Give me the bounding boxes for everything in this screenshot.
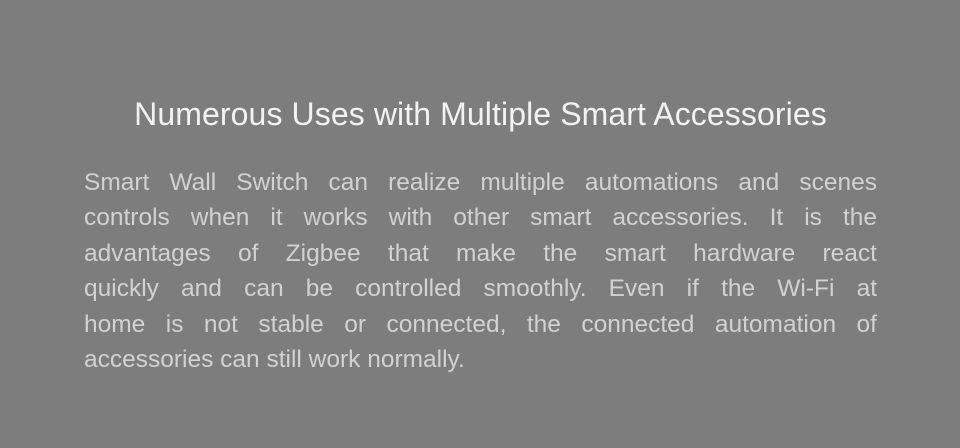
body-line: controls when it works with other smart … (84, 200, 877, 235)
banner-headline: Numerous Uses with Multiple Smart Access… (84, 94, 877, 134)
banner-body-copy: Smart Wall Switch can realize multiple a… (84, 165, 877, 377)
body-line: home is not stable or connected, the con… (84, 307, 877, 342)
body-line: Smart Wall Switch can realize multiple a… (84, 165, 877, 200)
body-line: advantages of Zigbee that make the smart… (84, 236, 877, 271)
body-line: quickly and can be controlled smoothly. … (84, 271, 877, 306)
body-line: accessories can still work normally. (84, 342, 877, 377)
banner-body-paragraph: Smart Wall Switch can realize multiple a… (84, 165, 877, 377)
product-feature-banner: Numerous Uses with Multiple Smart Access… (0, 0, 960, 448)
